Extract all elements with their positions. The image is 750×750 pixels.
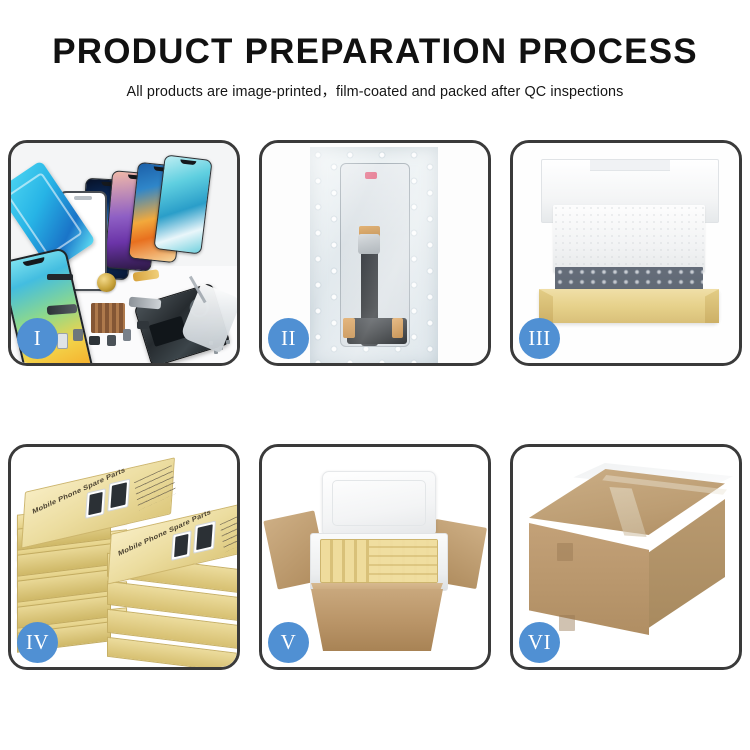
step-panel-4: Mobile Phone Spare Parts Mobile Phone Sp…: [8, 444, 240, 670]
packed-yellow-boxes: [320, 539, 438, 583]
carton-label-patch: [557, 543, 573, 561]
box-print-screen-thumb: [193, 521, 216, 554]
step-panel-6: VI: [510, 444, 742, 670]
yellow-box-tray: [539, 289, 719, 323]
carton-label-patch: [559, 615, 575, 631]
box-print-screen-thumb: [171, 530, 192, 561]
page-subtitle: All products are image-printed，film-coat…: [0, 80, 750, 101]
step-badge-3: III: [519, 318, 560, 359]
small-component: [123, 329, 131, 341]
styrofoam-lid: [322, 471, 436, 537]
step-badge-4: IV: [17, 622, 58, 663]
step-panel-1: I: [8, 140, 240, 366]
phone-fan-group: [63, 155, 237, 285]
step-panel-2: II: [259, 140, 491, 366]
step-badge-1: I: [17, 318, 58, 359]
process-steps-grid: I II: [8, 140, 742, 670]
infographic-page: PRODUCT PREPARATION PROCESS All products…: [0, 0, 750, 750]
step-badge-2: II: [268, 318, 309, 359]
small-component: [107, 335, 116, 346]
box-print-screen-thumb: [107, 479, 130, 512]
header: PRODUCT PREPARATION PROCESS All products…: [0, 34, 750, 101]
bubble-wrap-bag: [310, 147, 438, 363]
step-badge-5: V: [268, 622, 309, 663]
small-component: [73, 329, 83, 341]
page-title: PRODUCT PREPARATION PROCESS: [0, 34, 750, 71]
carton-body: [302, 589, 452, 651]
bag-reflection: [310, 147, 438, 363]
small-component: [57, 333, 68, 349]
box-print-feature-list: [134, 465, 176, 510]
box-print-feature-list: [220, 507, 237, 552]
ic-chip-grid-part: [91, 303, 125, 333]
step-badge-6: VI: [519, 622, 560, 663]
small-component: [89, 336, 100, 345]
earpiece-speaker-part: [47, 274, 73, 280]
small-component: [137, 321, 149, 329]
vibration-motor-part: [97, 273, 116, 292]
step-panel-5: V: [259, 444, 491, 670]
step-panel-3: III: [510, 140, 742, 366]
box-print-screen-thumb: [85, 488, 106, 519]
white-foam-sheet: [553, 205, 705, 273]
